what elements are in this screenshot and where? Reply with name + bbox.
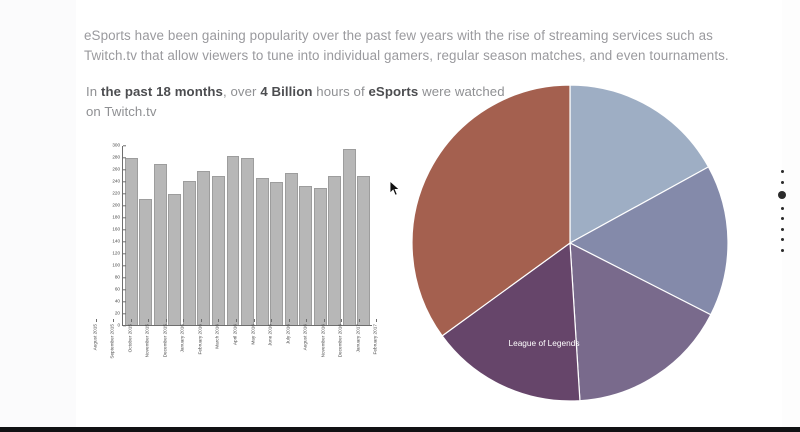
- x-axis-tick-label: December 2016: [339, 324, 344, 357]
- lede-bold-2: 4 Billion: [260, 84, 312, 99]
- x-axis-tick-label: June 2016: [269, 324, 274, 346]
- pager-dot[interactable]: [781, 217, 784, 220]
- x-axis-tick: October 2015: [123, 319, 139, 389]
- y-axis-tick-label: 260: [112, 167, 123, 172]
- y-axis-tick-label: 120: [112, 251, 123, 256]
- x-axis-tick: August 2016: [298, 319, 314, 389]
- bar: [285, 173, 298, 325]
- x-axis-tick-label: August 2016: [304, 324, 309, 350]
- x-axis-tick-label: August 2015: [93, 324, 98, 350]
- x-axis-tick: January 2016: [175, 319, 191, 389]
- pager-dot[interactable]: [781, 181, 784, 184]
- x-axis-tick-label: December 2015: [164, 324, 169, 357]
- x-axis-tick: March 2016: [211, 319, 227, 389]
- bar: [139, 199, 152, 325]
- bar: [168, 194, 181, 325]
- bar: [154, 164, 167, 325]
- x-axis-tick: May 2016: [246, 319, 262, 389]
- x-axis-tick-label: November 2016: [321, 324, 326, 357]
- x-axis-tick-label: January 2016: [181, 324, 186, 352]
- mouse-pointer-icon: [389, 180, 401, 197]
- y-axis-tick-label: 60: [115, 287, 123, 292]
- pie-chart-svg: Other GamesHearthstoneDOTA 2Counter-Stri…: [412, 82, 742, 407]
- y-axis-tick-label: 280: [112, 155, 123, 160]
- pager-dot[interactable]: [781, 249, 784, 252]
- x-axis-tick-label: March 2016: [216, 324, 221, 349]
- x-axis-tick: November 2016: [316, 319, 332, 389]
- bar: [183, 181, 196, 325]
- bar: [357, 176, 370, 325]
- lede-text-3: hours of: [313, 84, 369, 99]
- bar-chart: 0204060801001201401601802002202402602803…: [86, 138, 386, 393]
- bar: [343, 149, 356, 325]
- bar: [270, 182, 283, 325]
- y-axis-tick-label: 240: [112, 179, 123, 184]
- x-axis-tick: July 2016: [281, 319, 297, 389]
- bar: [125, 158, 138, 325]
- x-axis-tick-label: September 2015: [111, 324, 116, 359]
- y-axis-tick-label: 160: [112, 227, 123, 232]
- slide-pager[interactable]: [775, 170, 789, 252]
- x-axis-tick-label: October 2015: [128, 324, 133, 352]
- lede-text-1: In: [86, 84, 101, 99]
- bar: [197, 171, 210, 325]
- y-axis-tick-label: 140: [112, 239, 123, 244]
- pager-dot[interactable]: [781, 207, 784, 210]
- x-axis-tick-label: May 2016: [251, 324, 256, 345]
- y-axis-tick-label: 40: [115, 299, 123, 304]
- pie-slice-label: League of Legends: [508, 338, 579, 348]
- x-axis-tick-label: July 2016: [286, 324, 291, 344]
- x-axis-tick: June 2016: [263, 319, 279, 389]
- bar: [227, 156, 240, 325]
- y-axis-tick-label: 220: [112, 191, 123, 196]
- x-axis-tick-label: November 2015: [146, 324, 151, 357]
- intro-paragraph: eSports have been gaining popularity ove…: [84, 26, 734, 66]
- x-axis-tick: November 2015: [140, 319, 156, 389]
- y-axis-tick-label: 100: [112, 263, 123, 268]
- x-axis-tick: April 2016: [228, 319, 244, 389]
- infographic-page: eSports have been gaining popularity ove…: [0, 0, 800, 432]
- lede-bold-1: the past 18 months: [101, 84, 223, 99]
- pager-dot[interactable]: [781, 228, 784, 231]
- bar: [256, 178, 269, 325]
- x-axis-tick: December 2016: [333, 319, 349, 389]
- x-axis-tick-label: February 2016: [199, 324, 204, 355]
- y-axis-tick-label: 200: [112, 203, 123, 208]
- bar: [328, 176, 341, 325]
- bar: [314, 188, 327, 325]
- y-axis-tick-label: 80: [115, 275, 123, 280]
- x-axis-tick: February 2016: [193, 319, 209, 389]
- x-axis-tick: February 2017: [368, 319, 384, 389]
- x-axis-tick-label: April 2016: [234, 324, 239, 345]
- x-axis-tick: September 2015: [105, 319, 121, 389]
- bar: [212, 176, 225, 325]
- x-axis-tick-label: February 2017: [374, 324, 379, 355]
- x-axis-tick: January 2017: [351, 319, 367, 389]
- y-axis-tick-label: 300: [112, 143, 123, 148]
- pager-dot-active[interactable]: [778, 191, 786, 199]
- bar-chart-x-axis: August 2015September 2015October 2015Nov…: [86, 319, 386, 389]
- bar: [241, 158, 254, 325]
- lede-bold-3: eSports: [369, 84, 419, 99]
- y-axis-tick-label: 20: [115, 311, 123, 316]
- x-axis-tick: December 2015: [158, 319, 174, 389]
- pie-chart: Other GamesHearthstoneDOTA 2Counter-Stri…: [412, 82, 742, 407]
- lede-text-2: , over: [223, 84, 260, 99]
- window-bottom-rail: [0, 427, 800, 432]
- pager-dot[interactable]: [781, 170, 784, 173]
- x-axis-tick-label: January 2017: [356, 324, 361, 352]
- bar: [299, 186, 312, 325]
- x-axis-tick: August 2015: [88, 319, 104, 389]
- bar-series: [123, 145, 372, 325]
- page-gutter-left: [0, 0, 76, 427]
- pager-dot[interactable]: [781, 238, 784, 241]
- bar-chart-plot-area: 0204060801001201401601802002202402602803…: [122, 146, 372, 326]
- y-axis-tick-label: 180: [112, 215, 123, 220]
